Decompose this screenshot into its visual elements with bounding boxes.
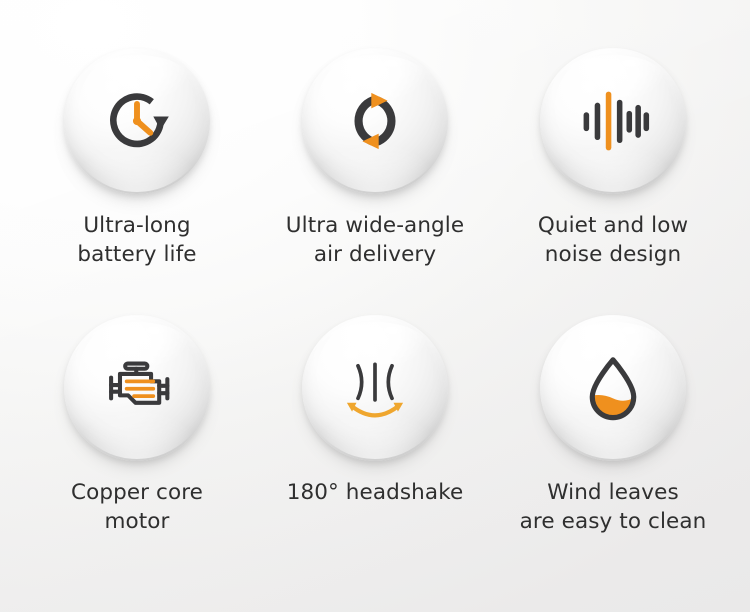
orb-specular-highlight-small xyxy=(382,59,402,68)
orb-specular-highlight-small xyxy=(144,326,164,335)
orb-specular-highlight-large xyxy=(580,324,614,335)
orb-specular-highlight-small xyxy=(620,59,640,68)
oscillation-icon xyxy=(338,351,412,425)
orb-specular-highlight-large xyxy=(104,57,138,68)
orb-specular-highlight-large xyxy=(342,324,376,335)
feature-label: Quiet and low noise design xyxy=(538,212,688,269)
feature-label: Copper core motor xyxy=(71,479,203,536)
feature-card-headshake[interactable]: 180° headshake xyxy=(256,315,494,582)
orb-specular-highlight-small xyxy=(620,326,640,335)
icon-orb xyxy=(302,48,448,194)
feature-card-low-noise[interactable]: Quiet and low noise design xyxy=(494,48,732,315)
feature-card-copper-motor[interactable]: Copper core motor xyxy=(18,315,256,582)
orb-specular-highlight-large xyxy=(104,324,138,335)
feature-grid: Ultra-long battery life Ultra w xyxy=(0,0,750,612)
feature-grid-page: Ultra-long battery life Ultra w xyxy=(0,0,750,612)
feature-card-easy-clean[interactable]: Wind leaves are easy to clean xyxy=(494,315,732,582)
feature-label: Ultra wide-angle air delivery xyxy=(286,212,464,269)
engine-motor-icon xyxy=(100,351,174,425)
clock-rotate-icon xyxy=(100,84,174,158)
feature-label: Ultra-long battery life xyxy=(77,212,196,269)
circular-arrows-icon xyxy=(338,84,412,158)
feature-card-battery-life[interactable]: Ultra-long battery life xyxy=(18,48,256,315)
icon-orb xyxy=(64,315,210,461)
water-droplet-icon xyxy=(576,351,650,425)
orb-specular-highlight-small xyxy=(144,59,164,68)
orb-specular-highlight-small xyxy=(382,326,402,335)
icon-orb xyxy=(540,48,686,194)
sound-wave-icon xyxy=(576,84,650,158)
orb-specular-highlight-large xyxy=(580,57,614,68)
icon-orb xyxy=(64,48,210,194)
feature-card-wide-angle-air[interactable]: Ultra wide-angle air delivery xyxy=(256,48,494,315)
feature-label: 180° headshake xyxy=(287,479,464,508)
icon-orb xyxy=(302,315,448,461)
icon-orb xyxy=(540,315,686,461)
orb-specular-highlight-large xyxy=(342,57,376,68)
feature-label: Wind leaves are easy to clean xyxy=(520,479,707,536)
